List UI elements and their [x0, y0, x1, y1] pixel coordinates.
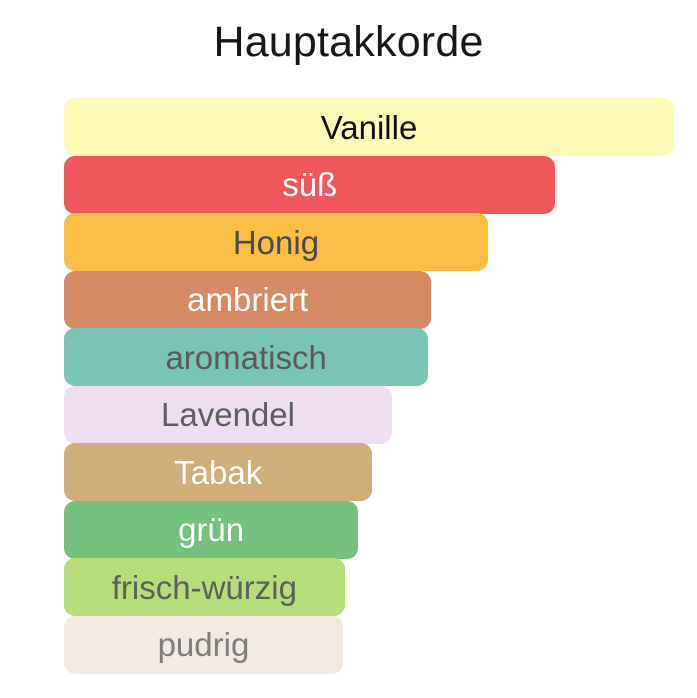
bar-row: Vanille	[64, 98, 674, 156]
bar-row: Lavendel	[64, 386, 674, 444]
bar-7[interactable]: Tabak	[64, 443, 372, 501]
bar-label: grün	[178, 513, 244, 546]
bar-label: Vanille	[321, 111, 418, 144]
bar-row: süß	[64, 156, 674, 214]
bar-label: Lavendel	[161, 398, 295, 431]
chart-title: Hauptakkorde	[0, 18, 697, 67]
bar-list: VanillesüßHonigambriertaromatischLavende…	[64, 98, 674, 674]
bar-row: grün	[64, 501, 674, 559]
bar-3[interactable]: Honig	[64, 213, 488, 271]
bar-label: pudrig	[158, 628, 250, 661]
bar-label: süß	[282, 168, 337, 201]
bar-1[interactable]: Vanille	[64, 98, 674, 156]
bar-5[interactable]: aromatisch	[64, 328, 428, 386]
bar-label: frisch-würzig	[112, 571, 297, 604]
bar-2[interactable]: süß	[64, 156, 555, 214]
bar-label: aromatisch	[165, 341, 326, 374]
bar-10[interactable]: pudrig	[64, 616, 343, 674]
accord-bar-chart: Hauptakkorde VanillesüßHonigambriertarom…	[0, 0, 697, 698]
bar-row: ambriert	[64, 271, 674, 329]
bar-row: frisch-würzig	[64, 558, 674, 616]
bar-4[interactable]: ambriert	[64, 271, 431, 329]
bar-label: ambriert	[187, 283, 308, 316]
bar-row: Tabak	[64, 443, 674, 501]
bar-label: Tabak	[174, 456, 262, 489]
bar-label: Honig	[233, 226, 319, 259]
bar-9[interactable]: frisch-würzig	[64, 558, 345, 616]
bar-6[interactable]: Lavendel	[64, 386, 392, 444]
bar-row: pudrig	[64, 616, 674, 674]
bar-row: Honig	[64, 213, 674, 271]
bar-row: aromatisch	[64, 328, 674, 386]
bar-8[interactable]: grün	[64, 501, 358, 559]
